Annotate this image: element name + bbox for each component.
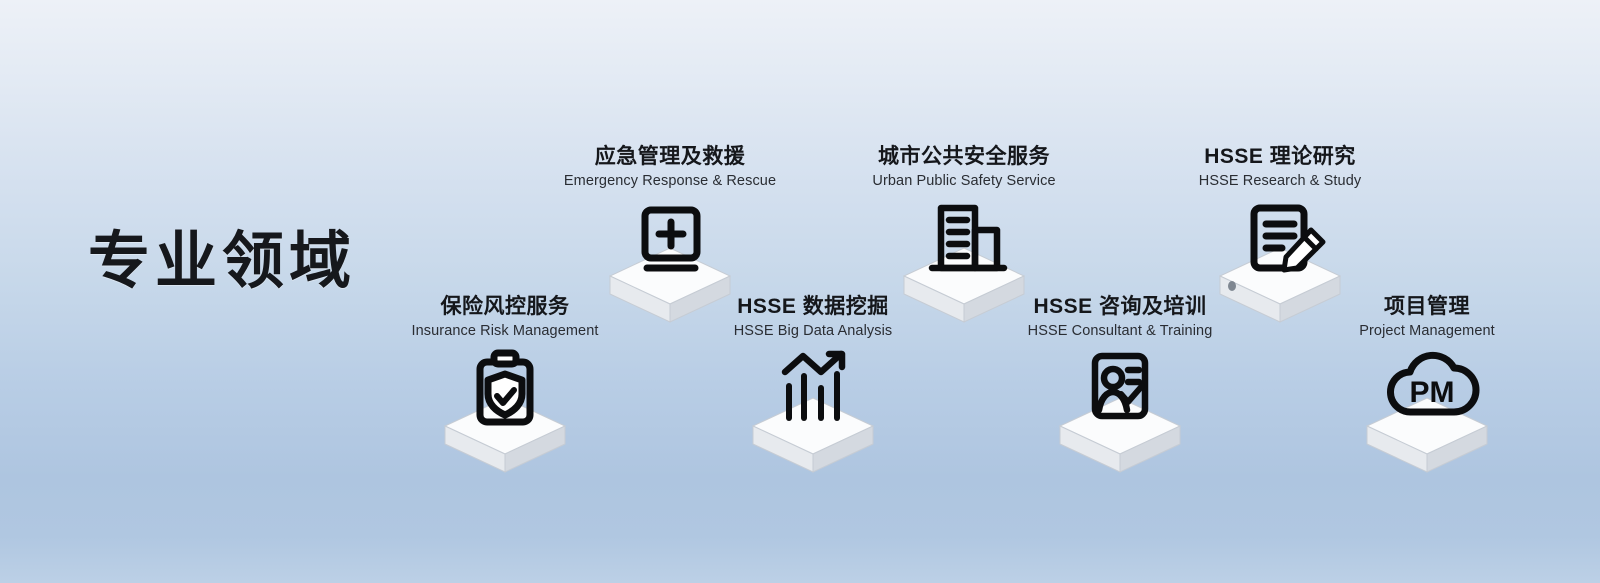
domain-visual <box>663 350 963 480</box>
domain-visual: PM <box>1277 350 1577 480</box>
domain-visual <box>970 350 1270 480</box>
domain-title: 城市公共安全服务 <box>814 144 1114 170</box>
domain-title: HSSE 咨询及培训 <box>970 294 1270 320</box>
domain-subtitle: Urban Public Safety Service <box>814 172 1114 192</box>
first-aid-monitor-icon <box>645 210 697 268</box>
domain-title: HSSE 数据挖掘 <box>663 294 963 320</box>
domain-subtitle: HSSE Big Data Analysis <box>663 322 963 342</box>
domain-subtitle: HSSE Consultant & Training <box>970 322 1270 342</box>
domain-subtitle: Project Management <box>1277 322 1577 342</box>
domain-item-hsse-big-data[interactable]: HSSE 数据挖掘 HSSE Big Data Analysis <box>663 294 963 480</box>
domain-title: 项目管理 <box>1277 294 1577 320</box>
cloud-pm-icon: PM <box>1390 355 1476 412</box>
domain-subtitle: Emergency Response & Rescue <box>520 172 820 192</box>
domain-title: HSSE 理论研究 <box>1130 144 1430 170</box>
page-title: 专业领域 <box>88 228 356 296</box>
domain-item-hsse-consultant[interactable]: HSSE 咨询及培训 HSSE Consultant & Training <box>970 294 1270 480</box>
domain-title: 应急管理及救援 <box>520 144 820 170</box>
pedestal <box>1060 398 1180 472</box>
domain-subtitle: HSSE Research & Study <box>1130 172 1430 192</box>
city-building-icon <box>932 208 1004 268</box>
pedestal-badge-text: PM <box>1410 376 1455 409</box>
pedestal <box>753 398 873 472</box>
professional-domains-banner: 专业领域 应急管理及救援 Emergency Response & Rescue <box>0 0 1600 583</box>
domain-title: 保险风控服务 <box>355 294 655 320</box>
domain-item-project-management[interactable]: 项目管理 Project Management PM <box>1277 294 1577 480</box>
domain-visual <box>355 350 655 480</box>
domain-subtitle: Insurance Risk Management <box>355 322 655 342</box>
pedestal-dot <box>1228 281 1236 291</box>
domain-item-insurance-risk[interactable]: 保险风控服务 Insurance Risk Management <box>355 294 655 480</box>
